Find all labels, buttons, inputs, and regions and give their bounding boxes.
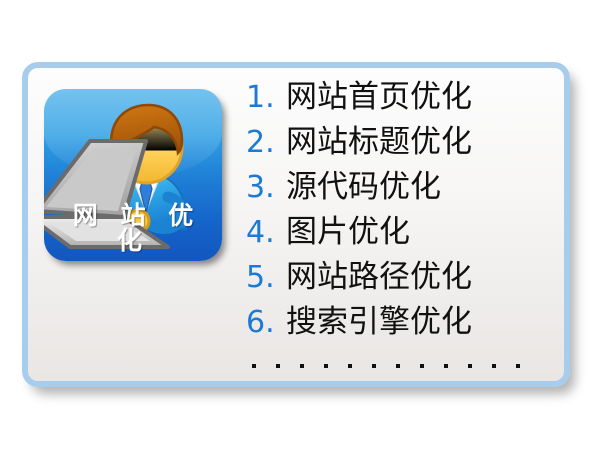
list-item-label: 源代码优化: [286, 172, 441, 203]
list-item-number: 5.: [246, 263, 286, 293]
list-item[interactable]: 4. 图片优化: [246, 217, 556, 262]
list-item-label: 网站路径优化: [286, 262, 472, 293]
dot: [516, 364, 520, 368]
list-item-number: 1.: [246, 83, 286, 113]
trailing-dots: [246, 352, 556, 380]
list-item-label: 网站首页优化: [286, 82, 472, 113]
list-item-label: 网站标题优化: [286, 127, 472, 158]
screenshot-canvas: 网 站 优 化 1. 网站首页优化 2. 网站标题优化 3. 源代码优化 4.: [0, 0, 600, 450]
info-card: 网 站 优 化 1. 网站首页优化 2. 网站标题优化 3. 源代码优化 4.: [22, 62, 570, 387]
list-item-label: 图片优化: [286, 217, 410, 248]
dot: [348, 364, 352, 368]
info-card-inner: 网 站 优 化 1. 网站首页优化 2. 网站标题优化 3. 源代码优化 4.: [28, 68, 564, 381]
list-item[interactable]: 2. 网站标题优化: [246, 127, 556, 172]
list-item-number: 3.: [246, 173, 286, 203]
list-item[interactable]: 6. 搜索引擎优化: [246, 307, 556, 352]
dot: [372, 364, 376, 368]
dot: [420, 364, 424, 368]
list-item-label: 搜索引擎优化: [286, 307, 472, 338]
dot: [444, 364, 448, 368]
icon-banner-label: 网 站 优 化: [44, 203, 222, 253]
dot: [492, 364, 496, 368]
list-item[interactable]: 3. 源代码优化: [246, 172, 556, 217]
website-optimization-icon: 网 站 优 化: [44, 89, 222, 261]
dot: [396, 364, 400, 368]
list-item-number: 2.: [246, 128, 286, 158]
list-item[interactable]: 1. 网站首页优化: [246, 82, 556, 127]
dot: [468, 364, 472, 368]
dot: [324, 364, 328, 368]
dot: [300, 364, 304, 368]
list-item[interactable]: 5. 网站路径优化: [246, 262, 556, 307]
list-item-number: 6.: [246, 308, 286, 338]
dot: [252, 364, 256, 368]
optimization-list: 1. 网站首页优化 2. 网站标题优化 3. 源代码优化 4. 图片优化 5.: [246, 82, 556, 380]
dot: [276, 364, 280, 368]
list-item-number: 4.: [246, 218, 286, 248]
